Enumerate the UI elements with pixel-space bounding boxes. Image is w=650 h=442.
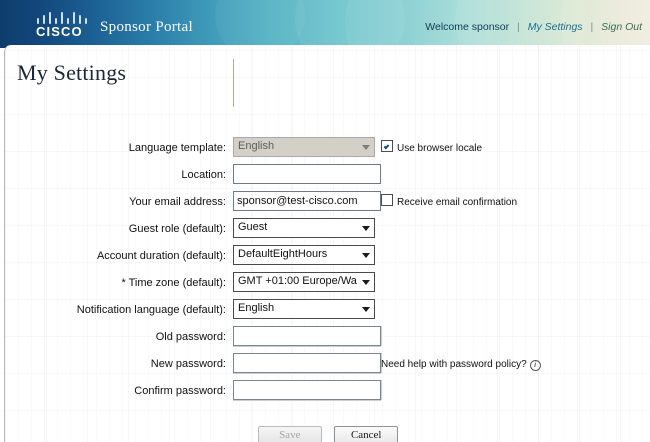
- chevron-down-icon: [362, 145, 370, 150]
- nav-link-my-settings[interactable]: My Settings: [528, 21, 583, 33]
- field-label: Old password:: [5, 331, 226, 343]
- field-label: Account duration (default):: [5, 250, 226, 262]
- form-row: Language template:EnglishUse browser loc…: [5, 137, 650, 164]
- form-row: New password:Need help with password pol…: [5, 353, 650, 380]
- input-2[interactable]: [233, 191, 381, 211]
- header-arc-decoration: [215, 0, 305, 48]
- form-row: Your email address:Receive email confirm…: [5, 191, 650, 218]
- field-control: Guest: [233, 218, 375, 238]
- cisco-logo[interactable]: CISCO: [36, 12, 96, 40]
- chevron-down-icon: [362, 226, 370, 231]
- form-button-bar: Save Cancel: [5, 425, 650, 442]
- field-label: * Time zone (default):: [5, 277, 226, 289]
- form-row: Confirm password:: [5, 380, 650, 407]
- field-control: [233, 380, 381, 400]
- field-label: Guest role (default):: [5, 223, 226, 235]
- checkbox-row-2[interactable]: Receive email confirmation: [381, 194, 517, 208]
- field-label: Confirm password:: [5, 385, 226, 397]
- form-row: Guest role (default):Guest: [5, 218, 650, 245]
- header-nav: Welcome sponsor | My Settings | Sign Out: [425, 21, 642, 33]
- form-row: Old password:: [5, 326, 650, 353]
- select-5[interactable]: GMT +01:00 Europe/Warsaw: [233, 272, 375, 292]
- field-control: GMT +01:00 Europe/Warsaw: [233, 272, 375, 292]
- input-8[interactable]: [233, 353, 381, 373]
- cisco-wordmark: CISCO: [36, 24, 83, 39]
- chevron-down-icon: [362, 253, 370, 258]
- page-title: My Settings: [17, 60, 126, 86]
- select-value: English: [238, 140, 357, 152]
- checkbox-input[interactable]: [381, 140, 393, 152]
- form-row: Location:: [5, 164, 650, 191]
- select-4[interactable]: DefaultEightHours: [233, 245, 375, 265]
- chevron-down-icon: [362, 307, 370, 312]
- select-value: Guest: [238, 221, 357, 233]
- field-label: Your email address:: [5, 196, 226, 208]
- field-label: Language template:: [5, 142, 226, 154]
- form-row: Notification language (default):English: [5, 299, 650, 326]
- info-icon[interactable]: i: [530, 360, 541, 371]
- field-control: [233, 191, 381, 211]
- checkbox-label: Receive email confirmation: [397, 197, 517, 208]
- checkbox-input[interactable]: [381, 194, 393, 206]
- save-button[interactable]: Save: [258, 426, 322, 442]
- page-header: CISCO Sponsor Portal Welcome sponsor | M…: [0, 0, 650, 48]
- password-policy-help[interactable]: Need help with password policy?i: [381, 359, 541, 371]
- field-label: Location:: [5, 169, 226, 181]
- content-panel: My Settings Language template:EnglishUse…: [4, 45, 650, 442]
- input-9[interactable]: [233, 380, 381, 400]
- cisco-bridge-icon: [37, 12, 93, 24]
- title-divider: [233, 59, 234, 107]
- field-label: New password:: [5, 358, 226, 370]
- password-policy-help-label: Need help with password policy?: [381, 359, 527, 370]
- nav-link-sign-out[interactable]: Sign Out: [601, 21, 642, 33]
- sponsor-portal-page: CISCO Sponsor Portal Welcome sponsor | M…: [0, 0, 650, 442]
- header-arc-decoration: [295, 0, 405, 48]
- checkbox-row-0[interactable]: Use browser locale: [381, 140, 482, 154]
- field-label: Notification language (default):: [5, 304, 226, 316]
- nav-separator: |: [517, 21, 520, 33]
- select-3[interactable]: Guest: [233, 218, 375, 238]
- select-6[interactable]: English: [233, 299, 375, 319]
- field-control: English: [233, 137, 375, 157]
- input-1[interactable]: [233, 164, 381, 184]
- portal-title: Sponsor Portal: [100, 19, 193, 36]
- nav-separator: |: [590, 21, 593, 33]
- checkbox-label: Use browser locale: [397, 143, 482, 154]
- form-row: * Time zone (default):GMT +01:00 Europe/…: [5, 272, 650, 299]
- select-value: DefaultEightHours: [238, 248, 357, 260]
- form-row: Account duration (default):DefaultEightH…: [5, 245, 650, 272]
- settings-form: Language template:EnglishUse browser loc…: [5, 137, 650, 407]
- input-7[interactable]: [233, 326, 381, 346]
- field-control: [233, 353, 381, 373]
- select-0: English: [233, 137, 375, 157]
- welcome-text: Welcome sponsor: [425, 21, 509, 33]
- select-value: English: [238, 302, 357, 314]
- select-value: GMT +01:00 Europe/Warsaw: [238, 275, 357, 287]
- field-control: English: [233, 299, 375, 319]
- cancel-button[interactable]: Cancel: [334, 426, 398, 442]
- field-control: [233, 326, 381, 346]
- field-control: DefaultEightHours: [233, 245, 375, 265]
- chevron-down-icon: [362, 280, 370, 285]
- field-control: [233, 164, 381, 184]
